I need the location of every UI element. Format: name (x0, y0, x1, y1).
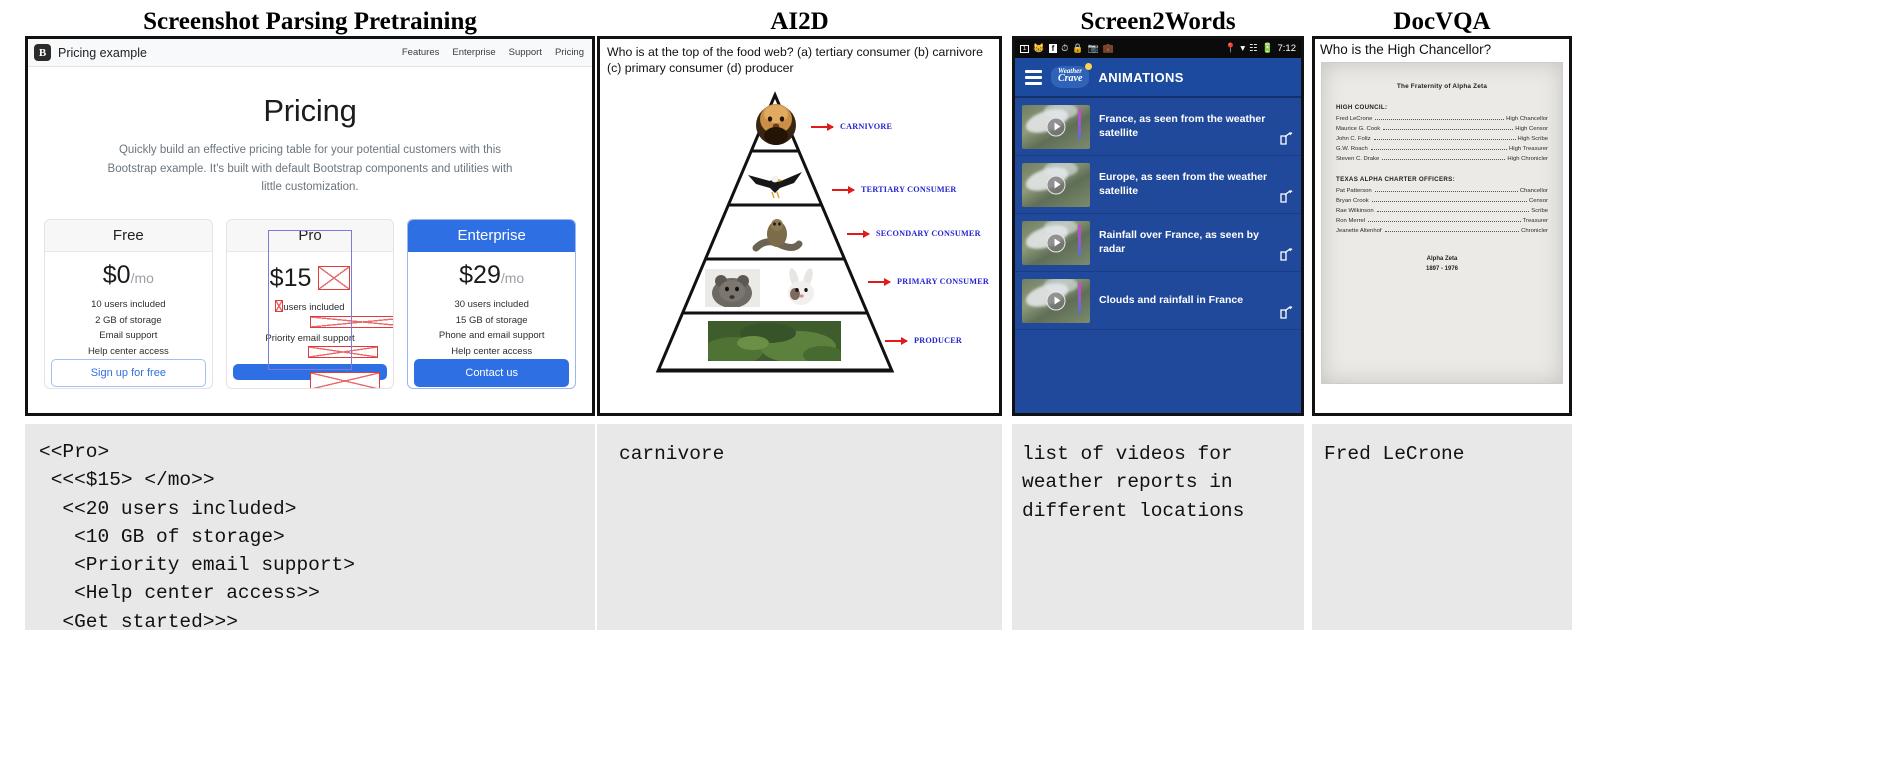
wifi-icon: ▾ (1240, 43, 1245, 54)
video-thumbnail (1022, 163, 1090, 207)
label-carnivore: CARNIVORE (840, 122, 892, 131)
video-thumbnail (1022, 279, 1090, 323)
camera-icon: 📷 (1087, 43, 1098, 54)
roster-entry: Maurice G. CookHigh Censor (1336, 126, 1548, 132)
app-bar: Weather Crave ANIMATIONS (1015, 58, 1301, 98)
lion-image (751, 103, 801, 147)
battery-icon: 🔋 (1262, 43, 1274, 54)
plan-feature: 15 GB of storage (414, 313, 569, 328)
section-title-high-council: HIGH COUNCIL: (1336, 104, 1548, 111)
signup-button[interactable]: Sign up for free (51, 359, 206, 387)
output-panel-ai2d: carnivore (597, 424, 1002, 630)
pricing-card-enterprise: Enterprise $29/mo 30 users included 15 G… (407, 219, 576, 389)
arrow-carnivore (811, 126, 833, 128)
video-title: France, as seen from the weather satelli… (1099, 113, 1269, 140)
arrow-producer (885, 340, 907, 342)
plan-feature: 10 users included (51, 297, 206, 312)
output-text-docvqa: Fred LeCrone (1324, 440, 1572, 468)
ai2d-diagram-panel: Who is at the top of the food web? (a) t… (597, 36, 1002, 416)
output-text-spp: <<Pro> <<<$15> </mo>> <<20 users include… (39, 438, 585, 630)
output-text-screen2words: list of videos for weather reports in di… (1022, 440, 1304, 525)
section-title-texas-alpha: TEXAS ALPHA CHARTER OFFICERS: (1336, 176, 1548, 183)
video-title: Clouds and rainfall in France (1099, 294, 1243, 308)
plan-price: $29/mo (414, 262, 569, 290)
share-icon[interactable] (1280, 132, 1293, 150)
bag-icon: 💼 (1103, 43, 1114, 54)
plan-price: $0/mo (51, 262, 206, 290)
column-title-spp: Screenshot Parsing Pretraining (25, 8, 595, 36)
navbar-links: Features Enterprise Support Pricing (402, 47, 584, 58)
output-panel-screen2words: list of videos for weather reports in di… (1012, 424, 1304, 630)
video-list: France, as seen from the weather satelli… (1015, 98, 1301, 413)
plan-feature: 2 GB of storage (51, 313, 206, 328)
roster-entry: Ron MerrelTreasurer (1336, 218, 1548, 224)
ai2d-question: Who is at the top of the food web? (a) t… (600, 39, 999, 81)
facebook-icon: f (1049, 44, 1058, 53)
share-icon[interactable] (1280, 248, 1293, 266)
roster-entry: Jeanette AltenhofChronicler (1336, 228, 1548, 234)
docvqa-question: Who is the High Chancellor? (1315, 39, 1569, 60)
food-pyramid: CARNIVORE TERTIARY CONSUMER SECONDARY CO… (600, 81, 999, 386)
plants-image (708, 321, 841, 361)
clock-icon: ⏱ (1061, 43, 1068, 54)
arrow-primary-consumer (868, 281, 890, 283)
plan-feature: s (233, 346, 388, 361)
video-title: Europe, as seen from the weather satelli… (1099, 171, 1269, 198)
roster-entry: Rae WilkinsonScribe (1336, 208, 1548, 214)
plan-feature: Phone and email support (414, 328, 569, 343)
video-title: Rainfall over France, as seen by radar (1099, 229, 1269, 256)
bootstrap-pricing-screenshot: B Pricing example Features Enterprise Su… (25, 36, 595, 416)
label-producer: PRODUCER (914, 336, 962, 345)
mask-feature-2 (310, 316, 394, 328)
page-title: Pricing (40, 93, 580, 129)
plan-feature: Help center access (51, 344, 206, 359)
arrow-tertiary-consumer (832, 189, 854, 191)
status-right-icons: 📍 ▾ ☷ 🔋 7:12 (1225, 43, 1297, 54)
roster-entry: Bryan CrookCensor (1336, 198, 1548, 204)
column-title-docvqa: DocVQA (1312, 8, 1572, 36)
roster-entry: G.W. RoachHigh Treasurer (1336, 146, 1548, 152)
roster-entry: Fred LeCroneHigh Chancellor (1336, 116, 1548, 122)
navbar-brand[interactable]: Pricing example (58, 46, 147, 60)
plan-feature: Priority email support (233, 331, 388, 346)
get-started-button[interactable] (233, 364, 388, 380)
logo-dot-icon (1085, 63, 1092, 70)
bootstrap-logo-icon: B (34, 44, 51, 61)
snake-and-rodent-image (750, 216, 804, 256)
share-icon[interactable] (1280, 190, 1293, 208)
lock-icon: 🔒 (1072, 43, 1083, 54)
rabbit-image (781, 267, 821, 307)
play-icon[interactable] (1047, 233, 1066, 252)
signal-icon: ☷ (1249, 43, 1258, 54)
footer-name: Alpha Zeta (1336, 254, 1548, 264)
page-lead: Quickly build an effective pricing table… (100, 141, 520, 197)
eagle-image (744, 163, 806, 201)
plan-name: Free (45, 220, 212, 252)
pricing-page-body: Pricing Quickly build an effective prici… (28, 93, 592, 416)
mask-feature-4b (308, 346, 378, 358)
label-tertiary-consumer: TERTIARY CONSUMER (861, 185, 957, 194)
nav-link-features[interactable]: Features (402, 47, 440, 58)
android-status-bar: 1 😸 f ⏱ 🔒 📷 💼 📍 ▾ ☷ 🔋 7:12 (1015, 39, 1301, 58)
nav-link-support[interactable]: Support (509, 47, 542, 58)
pricing-card-list: Free $0/mo 10 users included 2 GB of sto… (40, 219, 580, 389)
column-title-screen2words: Screen2Words (1012, 8, 1304, 36)
plan-name: Pro (227, 220, 394, 252)
plan-feature: 0 users included (233, 300, 388, 315)
video-thumbnail (1022, 221, 1090, 265)
list-item[interactable]: Europe, as seen from the weather satelli… (1015, 156, 1301, 214)
plan-price: $15 (233, 262, 388, 293)
roster-entry: Steven C. DrakeHigh Chronicler (1336, 156, 1548, 162)
status-clock: 7:12 (1278, 43, 1297, 54)
bootstrap-navbar: B Pricing example Features Enterprise Su… (28, 39, 592, 67)
scanned-document: The Fraternity of Alpha Zeta HIGH COUNCI… (1321, 62, 1563, 384)
output-text-ai2d: carnivore (619, 440, 1002, 468)
plan-feature: 30 users included (414, 297, 569, 312)
plan-feature (233, 316, 388, 331)
roster-entry: Pat PattersonChancellor (1336, 188, 1548, 194)
output-panel-spp: <<Pro> <<<$15> </mo>> <<20 users include… (25, 424, 595, 630)
video-thumbnail (1022, 105, 1090, 149)
weather-crave-logo: Weather Crave (1051, 66, 1089, 88)
list-item[interactable]: France, as seen from the weather satelli… (1015, 98, 1301, 156)
mask-cta-label (310, 372, 380, 389)
list-item[interactable]: Clouds and rainfall in France (1015, 272, 1301, 330)
share-icon[interactable] (1280, 306, 1293, 324)
app-bar-title: ANIMATIONS (1098, 70, 1183, 85)
label-primary-consumer: PRIMARY CONSUMER (897, 277, 989, 286)
label-secondary-consumer: SECONDARY CONSUMER (876, 229, 981, 238)
docvqa-panel: Who is the High Chancellor? The Fraterni… (1312, 36, 1572, 416)
plan-feature: Help center access (414, 344, 569, 359)
mask-price-suffix (318, 266, 350, 290)
nav-link-pricing[interactable]: Pricing (555, 47, 584, 58)
document-footer: Alpha Zeta 1897 - 1976 (1336, 254, 1548, 274)
plan-feature: Email support (51, 328, 206, 343)
pricing-card-free: Free $0/mo 10 users included 2 GB of sto… (44, 219, 213, 389)
mask-feature-1-prefix (275, 300, 283, 312)
hamburger-icon[interactable] (1025, 70, 1042, 85)
play-icon[interactable] (1047, 291, 1066, 310)
play-icon[interactable] (1047, 117, 1066, 136)
screen2words-mobile-screenshot: 1 😸 f ⏱ 🔒 📷 💼 📍 ▾ ☷ 🔋 7:12 Weather Crave… (1012, 36, 1304, 416)
plan-name: Enterprise (408, 220, 575, 252)
location-icon: 📍 (1225, 43, 1237, 54)
footer-years: 1897 - 1976 (1336, 264, 1548, 274)
rat-image (705, 269, 760, 307)
nav-link-enterprise[interactable]: Enterprise (452, 47, 495, 58)
column-title-ai2d: AI2D (597, 8, 1002, 36)
output-panel-docvqa: Fred LeCrone (1312, 424, 1572, 630)
list-item[interactable]: Rainfall over France, as seen by radar (1015, 214, 1301, 272)
document-heading: The Fraternity of Alpha Zeta (1336, 83, 1548, 90)
logo-big-text: Crave (1058, 74, 1082, 85)
play-icon[interactable] (1047, 175, 1066, 194)
pricing-card-pro: Pro $15 0 users included Priority email … (226, 219, 395, 389)
sim-icon: 1 (1020, 45, 1029, 53)
roster-entry: John C. FoltzHigh Scribe (1336, 136, 1548, 142)
cat-icon: 😸 (1033, 43, 1044, 54)
contact-us-button[interactable]: Contact us (414, 359, 569, 387)
figure-board: Screenshot Parsing Pretraining AI2D Scre… (0, 0, 1896, 782)
arrow-secondary-consumer (847, 233, 869, 235)
